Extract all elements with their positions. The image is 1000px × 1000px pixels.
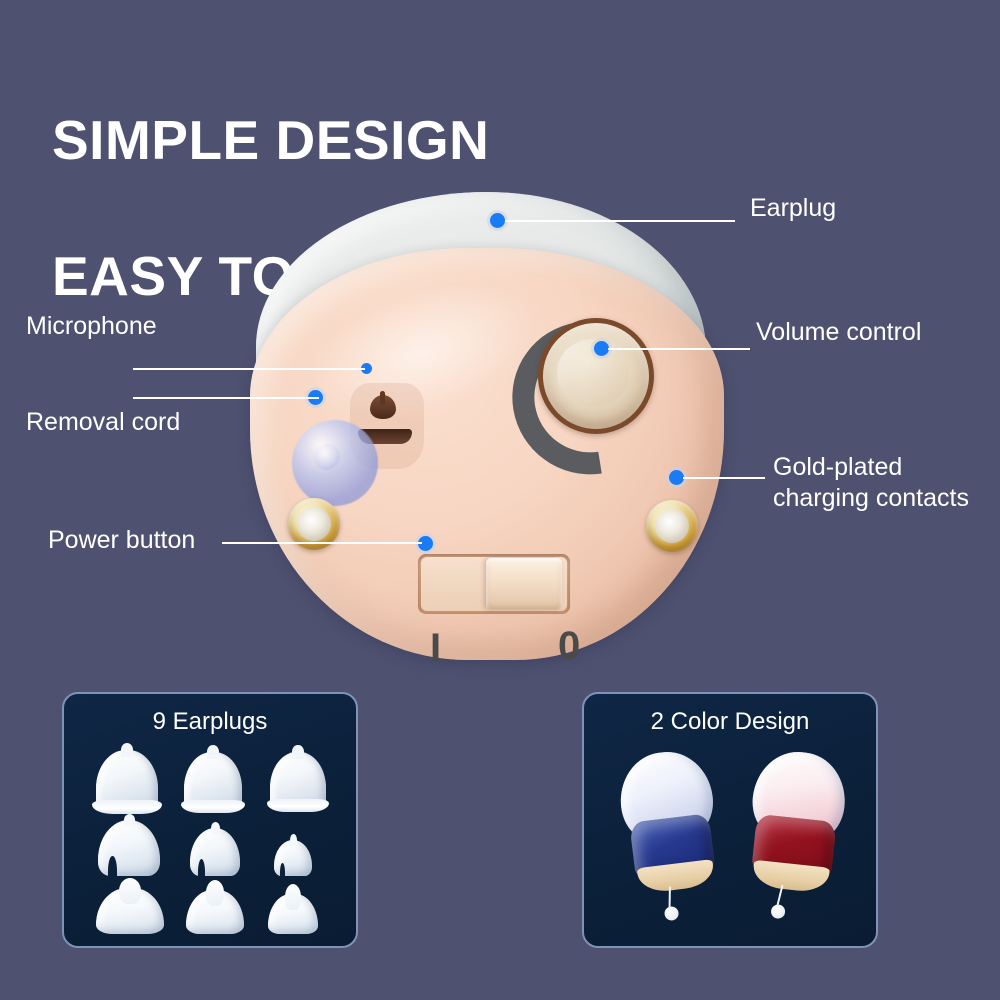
callout-line-volume-control (608, 348, 750, 350)
earplug-item (98, 820, 160, 876)
title-line-1: SIMPLE DESIGN (52, 106, 576, 174)
callout-label-earplug: Earplug (750, 193, 836, 224)
callout-label-removal-cord: Removal cord (26, 407, 180, 438)
earplug-mushroom-medium (186, 890, 244, 934)
earplug-item (268, 894, 318, 934)
panel-color-design: 2 Color Design (582, 692, 878, 948)
earplug-grid (82, 750, 342, 936)
earplug-dome-small (274, 840, 312, 876)
callout-label-gold-contacts: Gold-plated charging contacts (773, 452, 969, 514)
gold-charging-contact-right (646, 500, 698, 552)
callout-label-microphone: Microphone (26, 311, 157, 342)
panel-color-design-title: 2 Color Design (584, 708, 876, 736)
power-switch-on-mark: I (430, 626, 441, 671)
callout-line-microphone (133, 368, 365, 370)
callout-label-power-button: Power button (48, 525, 195, 556)
power-switch[interactable] (418, 554, 570, 614)
earplug-mushroom-large (96, 888, 164, 934)
panel-earplugs-title: 9 Earplugs (64, 708, 356, 736)
callout-dot-gold-contacts (669, 470, 684, 485)
earplug-dome-medium (190, 828, 240, 876)
callout-line-gold-contacts (683, 477, 765, 479)
hearing-aid-blue-bead (664, 906, 680, 922)
earplug-notch (108, 856, 117, 877)
callout-line-earplug (505, 220, 735, 222)
callout-dot-volume-control (594, 341, 609, 356)
earplug-bell-medium (184, 752, 242, 811)
hearing-aid-red-bead (770, 904, 785, 919)
callout-label-volume-control: Volume control (756, 317, 921, 348)
earplug-item (184, 752, 242, 811)
volume-control-dial[interactable] (538, 318, 654, 434)
callout-dot-earplug (490, 213, 505, 228)
earplug-bell-small (270, 752, 326, 810)
callout-line-power-button (222, 542, 422, 544)
panel-earplugs: 9 Earplugs (62, 692, 358, 948)
microphone-upper-vent (370, 395, 396, 419)
callout-line-removal-cord (133, 397, 319, 399)
earplug-item (186, 890, 244, 934)
product-infographic: SIMPLE DESIGN EASY TO OPERATE (0, 0, 1000, 1000)
earplug-mushroom-small (268, 894, 318, 934)
earplug-bell-large (96, 750, 158, 812)
power-switch-off-mark: 0 (558, 624, 580, 669)
earplug-notch (198, 859, 205, 877)
earplug-notch (280, 863, 285, 877)
earplug-dome-large (98, 820, 160, 876)
earplug-item (274, 840, 312, 876)
device-faceplate: I 0 (250, 248, 724, 660)
power-switch-knob[interactable] (486, 558, 562, 610)
earplug-item (96, 888, 164, 934)
earplug-item (270, 752, 326, 810)
earplug-item (96, 750, 158, 812)
removal-cord-bead (292, 420, 378, 506)
hearing-aid-device: I 0 (242, 192, 730, 662)
hearing-aid-blue (609, 746, 731, 908)
hearing-aid-red (736, 747, 855, 907)
earplug-item (190, 828, 240, 876)
